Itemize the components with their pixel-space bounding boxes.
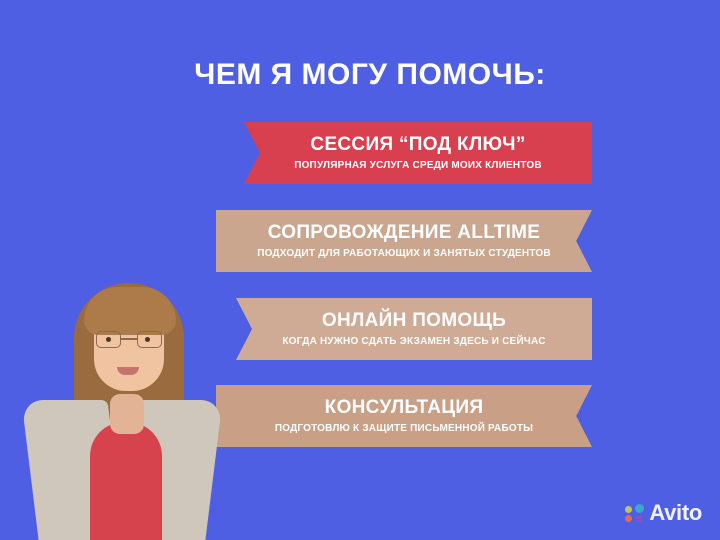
service-subtitle: ПОПУЛЯРНАЯ УСЛУГА СРЕДИ МОИХ КЛИЕНТОВ [294,160,542,171]
glasses-lens-right [137,331,162,348]
avito-watermark-label: Avito [649,500,702,526]
service-title: КОНСУЛЬТАЦИЯ [325,398,484,418]
neck [110,394,144,434]
page-title: ЧЕМ Я МОГУ ПОМОЧЬ: [0,58,720,92]
service-ribbon-1[interactable]: СЕССИЯ “ПОД КЛЮЧ” ПОПУЛЯРНАЯ УСЛУГА СРЕД… [244,122,592,184]
portrait-photo [24,275,224,540]
poster-canvas: ЧЕМ Я МОГУ ПОМОЧЬ: СЕССИЯ “ПОД КЛЮЧ” ПОП… [0,0,720,540]
service-ribbon-3[interactable]: ОНЛАЙН ПОМОЩЬ КОГДА НУЖНО СДАТЬ ЭКЗАМЕН … [236,298,592,360]
service-title: СОПРОВОЖДЕНИЕ ALLTIME [268,223,541,243]
service-subtitle: ПОДХОДИТ ДЛЯ РАБОТАЮЩИХ И ЗАНЯТЫХ СТУДЕН… [257,248,551,259]
glasses-lens-left [96,331,121,348]
avito-watermark: Avito [625,500,702,526]
hair-front [84,287,176,335]
avito-logo-icon [625,504,644,523]
service-title: СЕССИЯ “ПОД КЛЮЧ” [310,135,525,155]
service-subtitle: КОГДА НУЖНО СДАТЬ ЭКЗАМЕН ЗДЕСЬ И СЕЙЧАС [282,336,545,347]
glasses-bridge [121,338,137,340]
service-ribbon-4[interactable]: КОНСУЛЬТАЦИЯ ПОДГОТОВЛЮ К ЗАЩИТЕ ПИСЬМЕН… [216,385,592,447]
service-title: ОНЛАЙН ПОМОЩЬ [322,311,506,331]
service-subtitle: ПОДГОТОВЛЮ К ЗАЩИТЕ ПИСЬМЕННОЙ РАБОТЫ [275,423,533,434]
shirt [90,422,162,540]
service-ribbon-2[interactable]: СОПРОВОЖДЕНИЕ ALLTIME ПОДХОДИТ ДЛЯ РАБОТ… [216,210,592,272]
glasses-icon [96,331,162,348]
